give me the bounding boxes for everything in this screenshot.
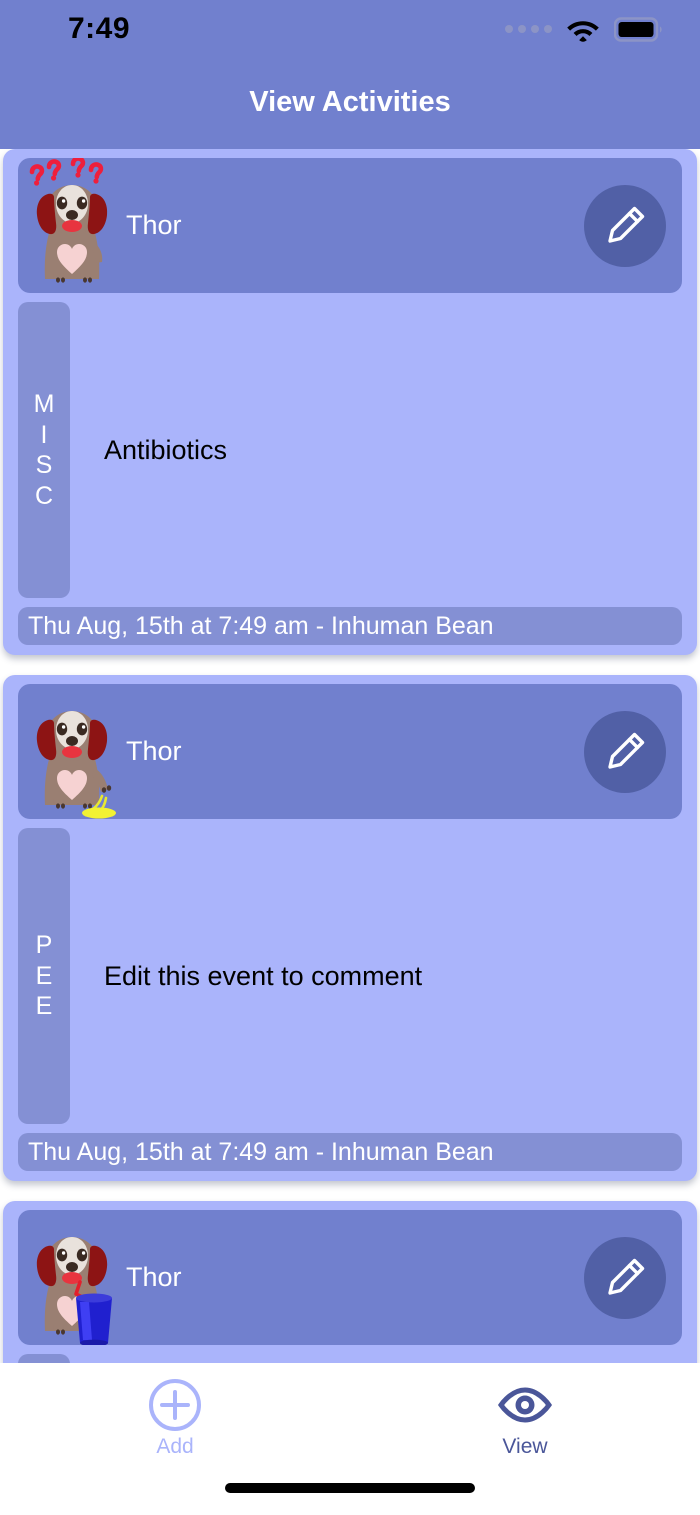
activity-list[interactable]: Thor M I S (0, 149, 700, 1363)
activity-type-chip: P E E (18, 828, 70, 1124)
activity-note: Antibiotics (70, 302, 682, 598)
type-letter: P (36, 930, 53, 961)
signal-dots-icon (505, 25, 552, 33)
type-letter: E (36, 961, 53, 992)
activity-timestamp: Thu Aug, 15th at 7:49 am - Inhuman Bean (28, 612, 494, 641)
pet-name: Thor (126, 210, 182, 241)
pencil-icon (602, 203, 648, 249)
page-title: View Activities (0, 86, 700, 119)
status-bar: 7:49 (0, 0, 700, 58)
pet-name: Thor (126, 1262, 182, 1293)
type-letter: M (34, 389, 55, 420)
plus-circle-icon (147, 1377, 203, 1433)
activity-card[interactable]: Thor P E E (3, 675, 697, 1181)
app-screen: 7:49 (0, 0, 700, 1515)
nav-header: 7:49 (0, 0, 700, 149)
tab-add-label: Add (156, 1435, 193, 1459)
pencil-icon (602, 1255, 648, 1301)
activity-type-chip: M I S C (18, 302, 70, 598)
dog-drinking-icon (24, 1210, 120, 1345)
activity-card-header: Thor (18, 1210, 682, 1345)
tab-add[interactable]: Add (90, 1377, 260, 1459)
dog-confused-icon (24, 158, 120, 293)
type-letter: I (41, 420, 48, 451)
type-letter: C (35, 481, 53, 512)
activity-card-header: Thor (18, 684, 682, 819)
tab-view-label: View (502, 1435, 547, 1459)
edit-activity-button[interactable] (584, 1237, 666, 1319)
activity-note (70, 1354, 682, 1363)
activity-timestamp: Thu Aug, 15th at 7:49 am - Inhuman Bean (28, 1138, 494, 1167)
activity-note: Edit this event to comment (70, 828, 682, 1124)
activity-footer: Thu Aug, 15th at 7:49 am - Inhuman Bean (18, 607, 682, 645)
eye-icon (497, 1377, 553, 1433)
activity-card-body: M I S C Antibiotics (18, 302, 682, 598)
activity-card-body (18, 1354, 682, 1363)
dog-peeing-icon (24, 684, 120, 819)
pet-name: Thor (126, 736, 182, 767)
type-letter: E (36, 991, 53, 1022)
activity-card-body: P E E Edit this event to comment (18, 828, 682, 1124)
activity-card[interactable]: Thor M I S (3, 149, 697, 655)
activity-footer: Thu Aug, 15th at 7:49 am - Inhuman Bean (18, 1133, 682, 1171)
status-bar-clock: 7:49 (68, 12, 130, 46)
edit-activity-button[interactable] (584, 711, 666, 793)
activity-card[interactable]: Thor (3, 1201, 697, 1363)
wifi-icon (566, 17, 600, 42)
home-indicator (225, 1483, 475, 1493)
activity-type-chip (18, 1354, 70, 1363)
battery-icon (614, 17, 664, 42)
tab-view[interactable]: View (440, 1377, 610, 1459)
status-bar-indicators (505, 17, 664, 42)
edit-activity-button[interactable] (584, 185, 666, 267)
bottom-tab-bar: Add View (0, 1363, 700, 1515)
pencil-icon (602, 729, 648, 775)
type-letter: S (36, 450, 53, 481)
activity-card-header: Thor (18, 158, 682, 293)
